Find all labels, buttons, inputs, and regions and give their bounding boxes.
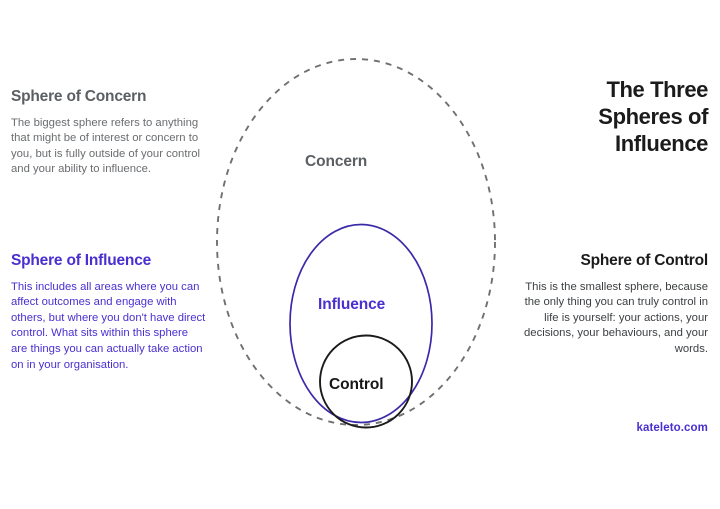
sphere-of-control-body: This is the smallest sphere, because the… xyxy=(513,280,708,358)
control-label: Control xyxy=(329,376,383,394)
brand-block: kateleto.com xyxy=(513,418,708,436)
poster-title-block: The Three Spheres of Influence xyxy=(518,76,708,157)
influence-label: Influence xyxy=(318,296,385,314)
sphere-of-control-block: Sphere of Control This is the smallest s… xyxy=(513,252,708,358)
poster-canvas: Sphere of Concern The biggest sphere ref… xyxy=(0,0,720,509)
sphere-of-concern-heading: Sphere of Concern xyxy=(11,88,207,107)
concern-ellipse xyxy=(217,59,495,425)
sphere-of-control-heading: Sphere of Control xyxy=(513,252,708,271)
brand-link[interactable]: kateleto.com xyxy=(636,422,708,434)
sphere-of-influence-body: This includes all areas where you can af… xyxy=(11,280,207,374)
sphere-of-influence-heading: Sphere of Influence xyxy=(11,252,207,271)
concern-label: Concern xyxy=(305,153,367,171)
sphere-of-concern-block: Sphere of Concern The biggest sphere ref… xyxy=(11,88,207,178)
page-title: The Three Spheres of Influence xyxy=(518,76,708,157)
sphere-of-influence-block: Sphere of Influence This includes all ar… xyxy=(11,252,207,373)
sphere-of-concern-body: The biggest sphere refers to anything th… xyxy=(11,116,207,178)
